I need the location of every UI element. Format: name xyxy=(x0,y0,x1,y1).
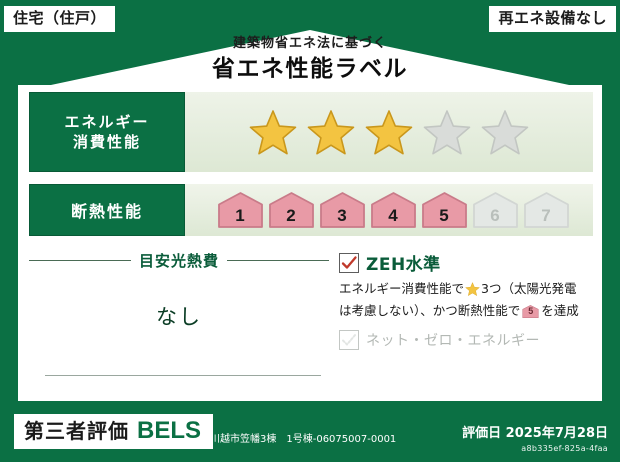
label-body-panel: エネルギー 消費性能 断熱性能 1234567 目安光熱費 なし xyxy=(18,85,602,401)
energy-star-rating xyxy=(185,92,593,172)
net-zero-energy-row: ネット・ゼロ・エネルギー xyxy=(339,330,593,350)
utility-cost-section: 目安光熱費 なし xyxy=(29,244,329,394)
zeh-desc-house-number: 5 xyxy=(522,305,539,319)
insulation-performance-label-box: 断熱性能 xyxy=(29,184,185,236)
zeh-desc-part1: エネルギー消費性能で xyxy=(339,281,464,296)
insulation-grade-number: 1 xyxy=(235,206,244,226)
house-icon: 2 xyxy=(268,191,315,229)
utility-cost-heading-text: 目安光熱費 xyxy=(139,250,219,271)
insulation-grade-number: 4 xyxy=(388,206,397,226)
star-icon xyxy=(481,109,529,155)
house-icon: 5 xyxy=(522,304,539,319)
zeh-section: ZEH水準 エネルギー消費性能で3つ（太陽光発電は考慮しない）、かつ断熱性能で5… xyxy=(329,244,593,394)
certificate-hash: a8b335ef-825a-4faa xyxy=(462,444,608,453)
renewable-equipment-tag: 再エネ設備なし xyxy=(489,6,616,32)
insulation-grade-number: 5 xyxy=(439,206,448,226)
star-icon xyxy=(465,284,480,299)
house-icon: 5 xyxy=(421,191,468,229)
rule-right xyxy=(227,260,329,261)
insulation-grade-scale: 1234567 xyxy=(185,184,593,236)
utility-cost-value: なし xyxy=(29,301,329,331)
utility-cost-heading: 目安光熱費 xyxy=(29,250,329,271)
house-icon: 1 xyxy=(217,191,264,229)
star-icon xyxy=(249,109,297,155)
zeh-desc-star-count: 3つ（太陽光発電 xyxy=(481,281,576,296)
footer-bar: 第三者評価 BELS 川越市笠幡3棟 1号棟-06075007-0001 評価日… xyxy=(0,406,620,462)
energy-performance-row: エネルギー 消費性能 xyxy=(29,92,593,172)
zeh-title: ZEH水準 xyxy=(366,250,441,275)
roof-shape xyxy=(18,30,602,92)
energy-label-line1: エネルギー xyxy=(64,112,149,132)
building-type-tag: 住宅（住戸） xyxy=(4,6,115,32)
insulation-grade-number: 3 xyxy=(337,206,346,226)
net-zero-energy-label: ネット・ゼロ・エネルギー xyxy=(366,330,540,350)
insulation-grade-number: 7 xyxy=(541,206,550,226)
star-icon xyxy=(307,109,355,155)
energy-performance-label-box: エネルギー 消費性能 xyxy=(29,92,185,172)
star-icon xyxy=(423,109,471,155)
insulation-performance-row: 断熱性能 1234567 xyxy=(29,184,593,236)
evaluation-date-block: 評価日 2025年7月28日 a8b335ef-825a-4faa xyxy=(462,422,608,453)
rule-left xyxy=(29,260,131,261)
zeh-title-row: ZEH水準 xyxy=(339,250,593,275)
house-icon: 3 xyxy=(319,191,366,229)
zeh-desc-part2: は考慮しない）、かつ断熱性能で xyxy=(339,303,520,318)
house-icon: 7 xyxy=(523,191,570,229)
lower-section: 目安光熱費 なし ZEH水準 エネルギー消費性能で3つ（太陽光発電は考慮し xyxy=(29,244,593,394)
check-icon xyxy=(339,253,359,273)
insulation-grade-number: 6 xyxy=(490,206,499,226)
energy-label-line2: 消費性能 xyxy=(73,132,141,152)
zeh-desc-part3: を達成 xyxy=(541,303,579,318)
insulation-label-text: 断熱性能 xyxy=(71,198,143,222)
house-icon: 4 xyxy=(370,191,417,229)
bels-badge-jp: 第三者評価 xyxy=(24,421,129,441)
zeh-description: エネルギー消費性能で3つ（太陽光発電は考慮しない）、かつ断熱性能で5を達成 xyxy=(339,280,593,321)
energy-performance-label: 住宅（住戸） 再エネ設備なし 建築物省エネ法に基づく 省エネ性能ラベル エネルギ… xyxy=(0,0,620,462)
unchecked-box-icon xyxy=(339,330,359,350)
bels-badge-en: BELS xyxy=(137,419,201,443)
utility-cost-underline xyxy=(45,375,321,376)
bels-badge: 第三者評価 BELS xyxy=(14,414,213,449)
insulation-grade-number: 2 xyxy=(286,206,295,226)
evaluation-date: 評価日 2025年7月28日 xyxy=(462,422,608,441)
property-reference: 川越市笠幡3棟 1号棟-06075007-0001 xyxy=(210,430,396,445)
star-icon xyxy=(365,109,413,155)
house-icon: 6 xyxy=(472,191,519,229)
